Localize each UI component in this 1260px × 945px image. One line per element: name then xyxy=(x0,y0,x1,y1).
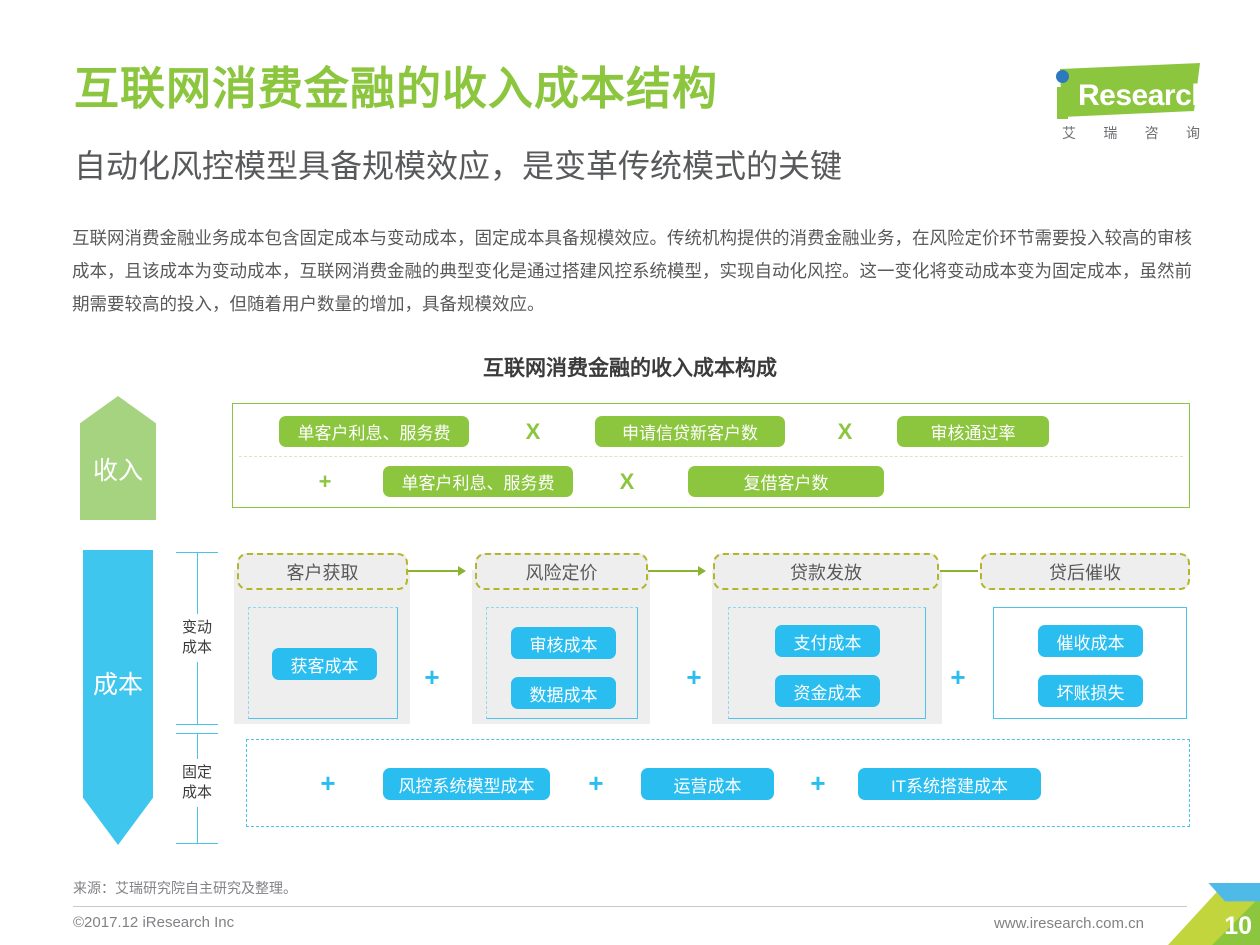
revenue-term-3[interactable]: 审核通过率 xyxy=(897,416,1049,447)
copyright-text: ©2017.12 iResearch Inc xyxy=(73,914,234,931)
cost-item-collection[interactable]: 催收成本 xyxy=(1038,625,1143,657)
bracket-fixed-cost-label: 固定 成本 xyxy=(174,763,220,803)
connector-2 xyxy=(648,566,708,576)
cost-item-payment[interactable]: 支付成本 xyxy=(775,625,880,657)
revenue-operator-4: X xyxy=(607,466,647,497)
stage-header-3[interactable]: 贷款发放 xyxy=(713,553,939,590)
cost-item-funding[interactable]: 资金成本 xyxy=(775,675,880,707)
revenue-term-5[interactable]: 复借客户数 xyxy=(688,466,884,497)
logo-wordmark: Research xyxy=(1078,81,1209,111)
page-number: 10 xyxy=(1224,912,1252,941)
revenue-operator-3: + xyxy=(305,466,345,497)
cost-item-review[interactable]: 审核成本 xyxy=(511,627,616,659)
footer-divider xyxy=(73,906,1187,907)
fixed-term-1[interactable]: 风控系统模型成本 xyxy=(383,768,550,800)
logo-cn-char-3: 咨 xyxy=(1145,123,1159,143)
revenue-term-2[interactable]: 申请信贷新客户数 xyxy=(595,416,785,447)
bracket-variable-cost: 变动 成本 xyxy=(176,552,218,724)
stage-header-1[interactable]: 客户获取 xyxy=(237,553,408,590)
fixed-operator-2: + xyxy=(581,768,611,798)
fixed-term-2[interactable]: 运营成本 xyxy=(641,768,774,800)
stage-inner-1: 获客成本 xyxy=(248,607,398,719)
logo-cn-char-1: 艾 xyxy=(1062,123,1076,143)
website-url[interactable]: www.iresearch.com.cn xyxy=(994,915,1144,932)
stage-separator-3: + xyxy=(943,662,973,692)
fixed-term-3[interactable]: IT系统搭建成本 xyxy=(858,768,1041,800)
logo-cn-char-4: 询 xyxy=(1186,123,1200,143)
bracket-variable-cost-label: 变动 成本 xyxy=(174,618,220,658)
cost-item-baddebt[interactable]: 坏账损失 xyxy=(1038,675,1143,707)
fixed-operator-3: + xyxy=(803,768,833,798)
revenue-arrow-label: 收入 xyxy=(93,429,143,487)
logo-i-stem-icon xyxy=(1057,87,1068,119)
fixed-operator-1: + xyxy=(313,768,343,798)
logo-cn-char-2: 瑞 xyxy=(1103,123,1117,143)
revenue-formula-box: 单客户利息、服务费 X 申请信贷新客户数 X 审核通过率 + 单客户利息、服务费… xyxy=(232,403,1190,508)
page-subtitle: 自动化风控模型具备规模效应，是变革传统模式的关键 xyxy=(74,150,842,182)
page-title: 互联网消费金融的收入成本结构 xyxy=(74,66,718,111)
cost-item-data[interactable]: 数据成本 xyxy=(511,677,616,709)
cost-item-acquisition[interactable]: 获客成本 xyxy=(272,648,377,680)
stage-separator-1: + xyxy=(417,662,447,692)
stage-inner-2: 审核成本 数据成本 xyxy=(486,607,638,719)
fixed-cost-box: + 风控系统模型成本 + 运营成本 + IT系统搭建成本 xyxy=(246,739,1190,827)
stage-inner-4: 催收成本 坏账损失 xyxy=(993,607,1187,719)
stage-inner-3: 支付成本 资金成本 xyxy=(728,607,926,719)
chart-title: 互联网消费金融的收入成本构成 xyxy=(0,352,1260,382)
stage-header-4[interactable]: 贷后催收 xyxy=(980,553,1190,590)
bracket-fixed-cost: 固定 成本 xyxy=(176,733,218,843)
stage-separator-2: + xyxy=(679,662,709,692)
revenue-term-1[interactable]: 单客户利息、服务费 xyxy=(279,416,469,447)
connector-1 xyxy=(408,566,468,576)
page-header: 互联网消费金融的收入成本结构 自动化风控模型具备规模效应，是变革传统模式的关键 … xyxy=(0,0,1260,210)
revenue-arrow: 收入 xyxy=(80,396,156,520)
iresearch-logo: Research 艾 瑞 咨 询 xyxy=(1040,63,1200,145)
logo-dot-icon xyxy=(1056,70,1069,83)
source-note: 来源：艾瑞研究院自主研究及整理。 xyxy=(73,878,297,898)
cost-arrow: 成本 xyxy=(83,550,153,845)
body-paragraph: 互联网消费金融业务成本包含固定成本与变动成本，固定成本具备规模效应。传统机构提供… xyxy=(72,222,1192,321)
cost-arrow-label: 成本 xyxy=(93,665,143,731)
stage-header-2[interactable]: 风险定价 xyxy=(475,553,648,590)
revenue-operator-2: X xyxy=(825,416,865,447)
revenue-term-4[interactable]: 单客户利息、服务费 xyxy=(383,466,573,497)
revenue-operator-1: X xyxy=(513,416,553,447)
logo-chinese-name: 艾 瑞 咨 询 xyxy=(1062,123,1200,143)
